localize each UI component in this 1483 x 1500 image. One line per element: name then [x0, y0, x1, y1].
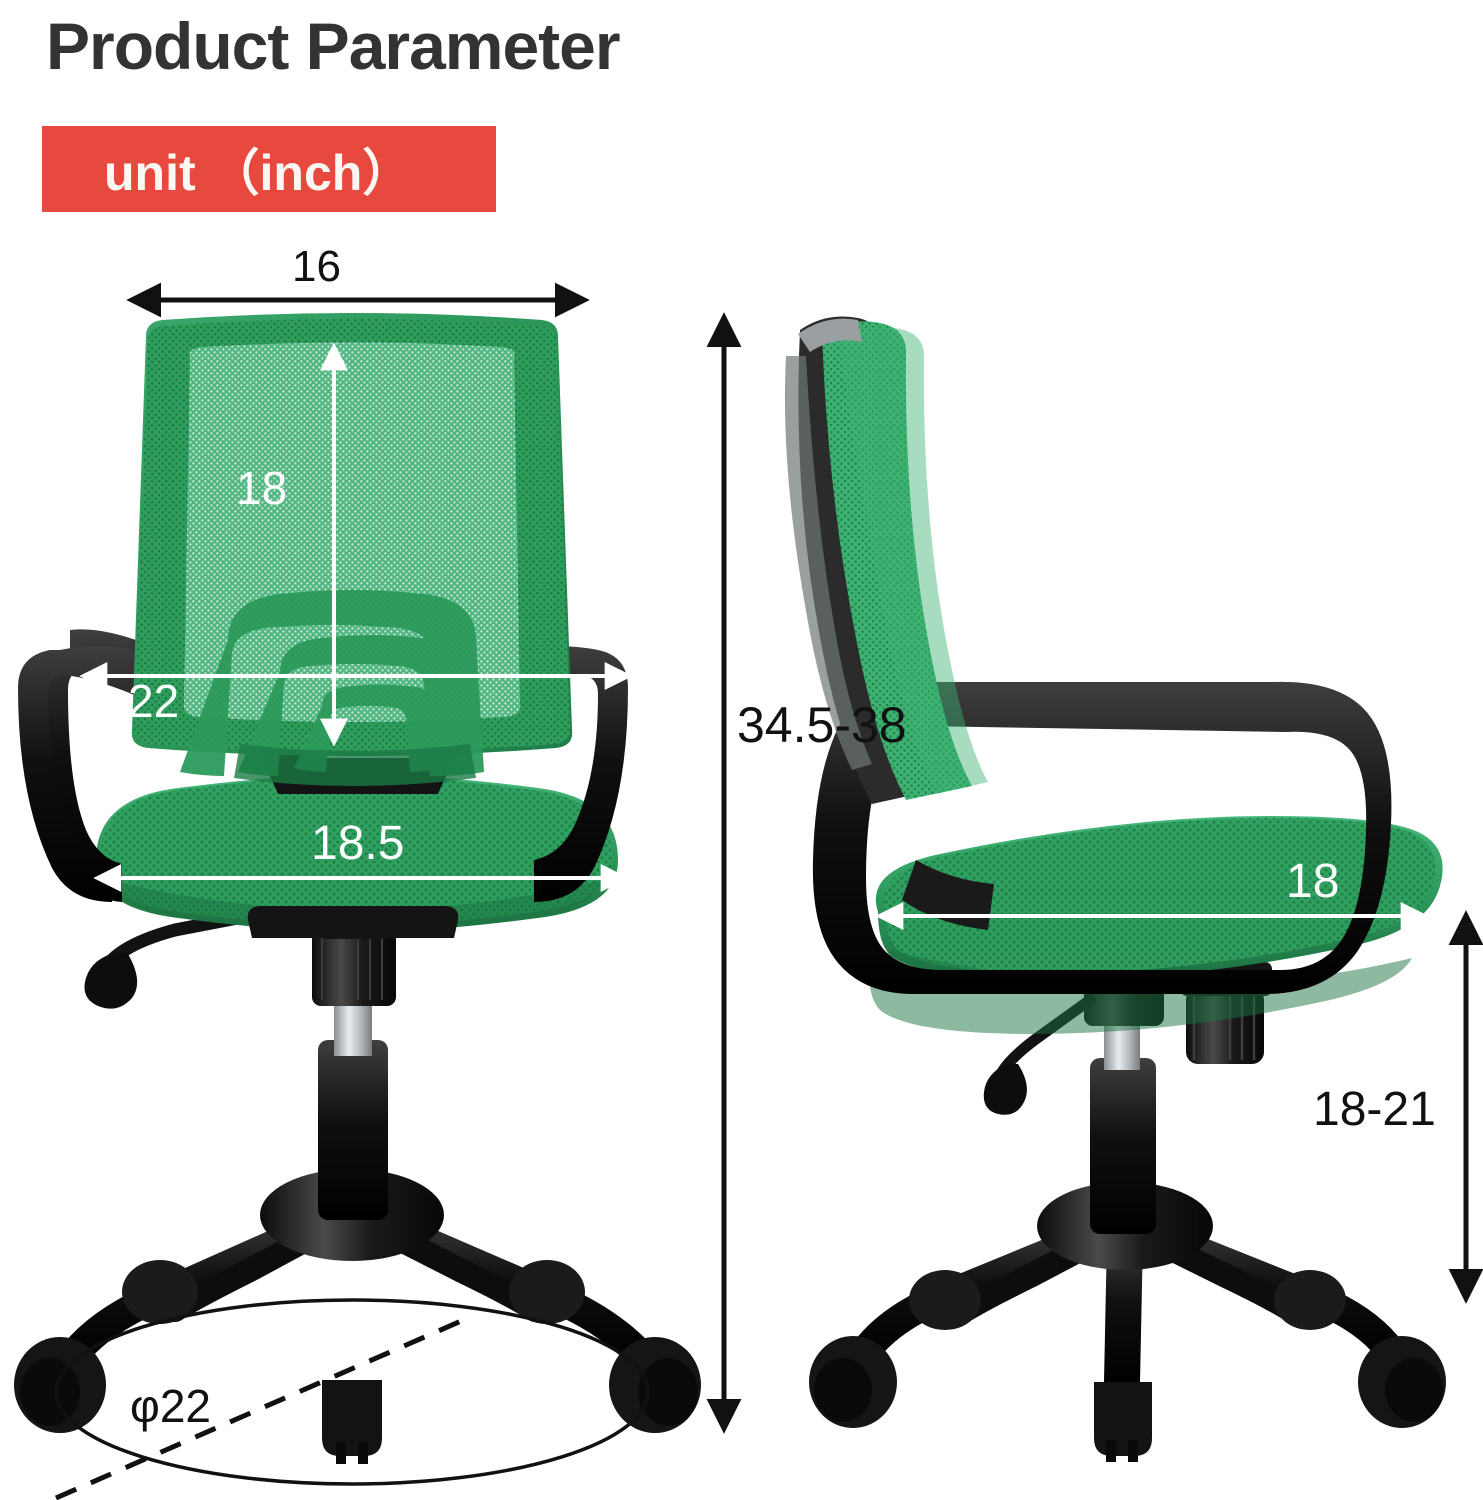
- dim-label-base-diameter: φ22: [130, 1383, 211, 1429]
- product-parameter-diagram: Product Parameter unit （inch）: [0, 0, 1483, 1500]
- dim-label-seat-width: 18.5: [311, 820, 404, 868]
- dim-label-armrest-width: 22: [128, 678, 179, 724]
- dim-label-backrest-width: 16: [292, 245, 341, 289]
- dim-label-seat-height: 18-21: [1313, 1086, 1436, 1134]
- dim-label-seat-depth: 18: [1286, 858, 1339, 906]
- dim-label-backrest-height: 18: [236, 465, 287, 511]
- dim-label-overall-height: 34.5-38: [737, 700, 907, 750]
